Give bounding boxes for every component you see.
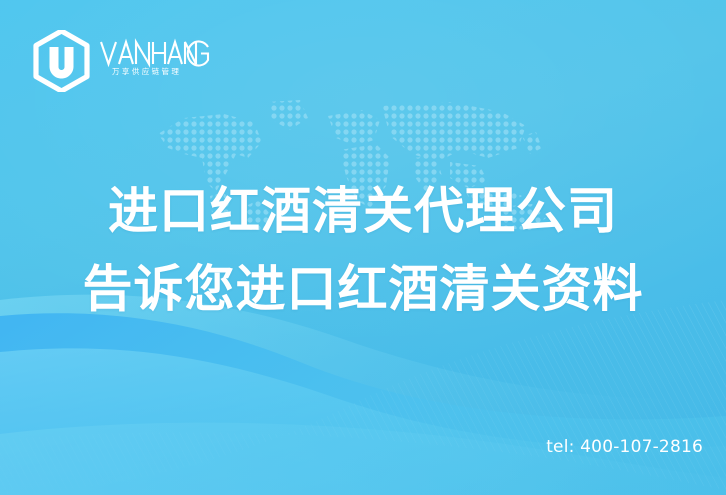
headline-line-2: 告诉您进口红酒清关资料 [0, 250, 726, 328]
diagonal-hatch-lines [0, 300, 726, 495]
headline-line-1: 进口红酒清关代理公司 [0, 172, 726, 250]
brand-logo[interactable]: 万享供应链管理 [33, 30, 210, 92]
page-title: 进口红酒清关代理公司 告诉您进口红酒清关资料 [0, 172, 726, 328]
contact-phone[interactable]: tel: 400-107-2816 [546, 437, 703, 457]
vanhang-hexagon-u-mark-icon [33, 30, 90, 92]
logo-subtitle-cn: 万享供应链管理 [112, 66, 181, 77]
promo-banner: 万享供应链管理 进口红酒清关代理公司 告诉您进口红酒清关资料 tel: 400-… [0, 0, 726, 495]
vanhang-wordmark: 万享供应链管理 [100, 37, 210, 85]
